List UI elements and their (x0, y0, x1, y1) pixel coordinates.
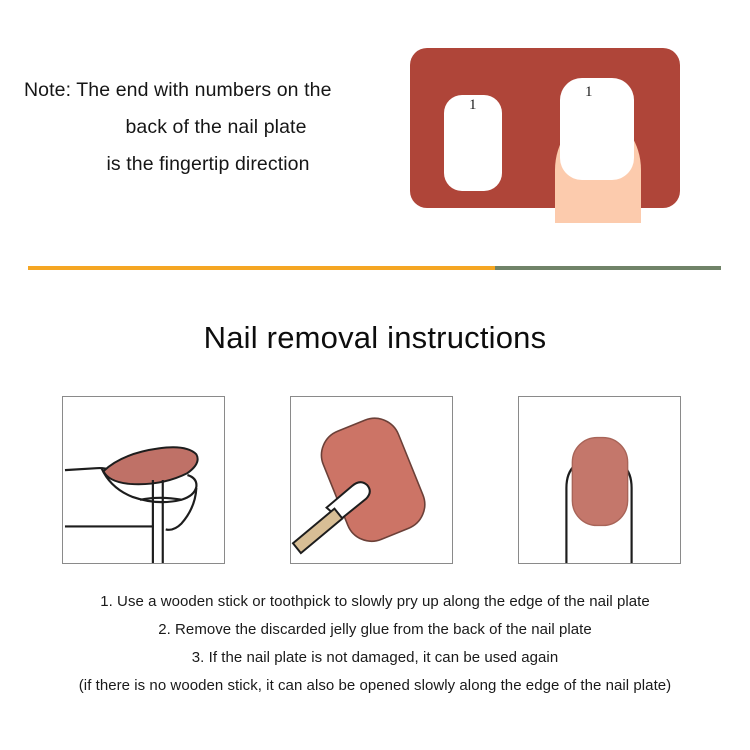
instruction-line-3: 3. If the nail plate is not damaged, it … (0, 644, 750, 672)
divider-left-segment (28, 266, 495, 270)
instruction-line-1: 1. Use a wooden stick or toothpick to sl… (0, 588, 750, 616)
step-illustration-pry-up-nail-plate (62, 396, 225, 564)
nail-number-left: 1 (469, 97, 477, 114)
pry-up-nail-plate-icon (63, 397, 224, 563)
section-divider (28, 266, 721, 270)
instruction-line-4: (if there is no wooden stick, it can als… (0, 672, 750, 700)
remove-jelly-glue-icon (291, 397, 452, 563)
step-illustration-remove-jelly-glue (290, 396, 453, 564)
note-line-3: is the fingertip direction (10, 146, 396, 183)
step-illustrations-row (0, 396, 750, 568)
note-line-2: back of the nail plate (10, 109, 396, 146)
instructions-list: 1. Use a wooden stick or toothpick to sl… (0, 588, 750, 700)
note-text-block: Note: The end with numbers on the back o… (10, 72, 396, 183)
step-illustration-reuse-nail-plate (518, 396, 681, 564)
nail-number-right: 1 (585, 84, 593, 101)
reuse-nail-plate-icon (519, 397, 680, 563)
page-title: Nail removal instructions (0, 320, 750, 356)
divider-right-segment (495, 266, 721, 270)
note-line-1: Note: The end with numbers on the (10, 72, 396, 109)
note-section: Note: The end with numbers on the back o… (0, 0, 750, 250)
nail-plate-right (560, 78, 634, 180)
instruction-line-2: 2. Remove the discarded jelly glue from … (0, 616, 750, 644)
